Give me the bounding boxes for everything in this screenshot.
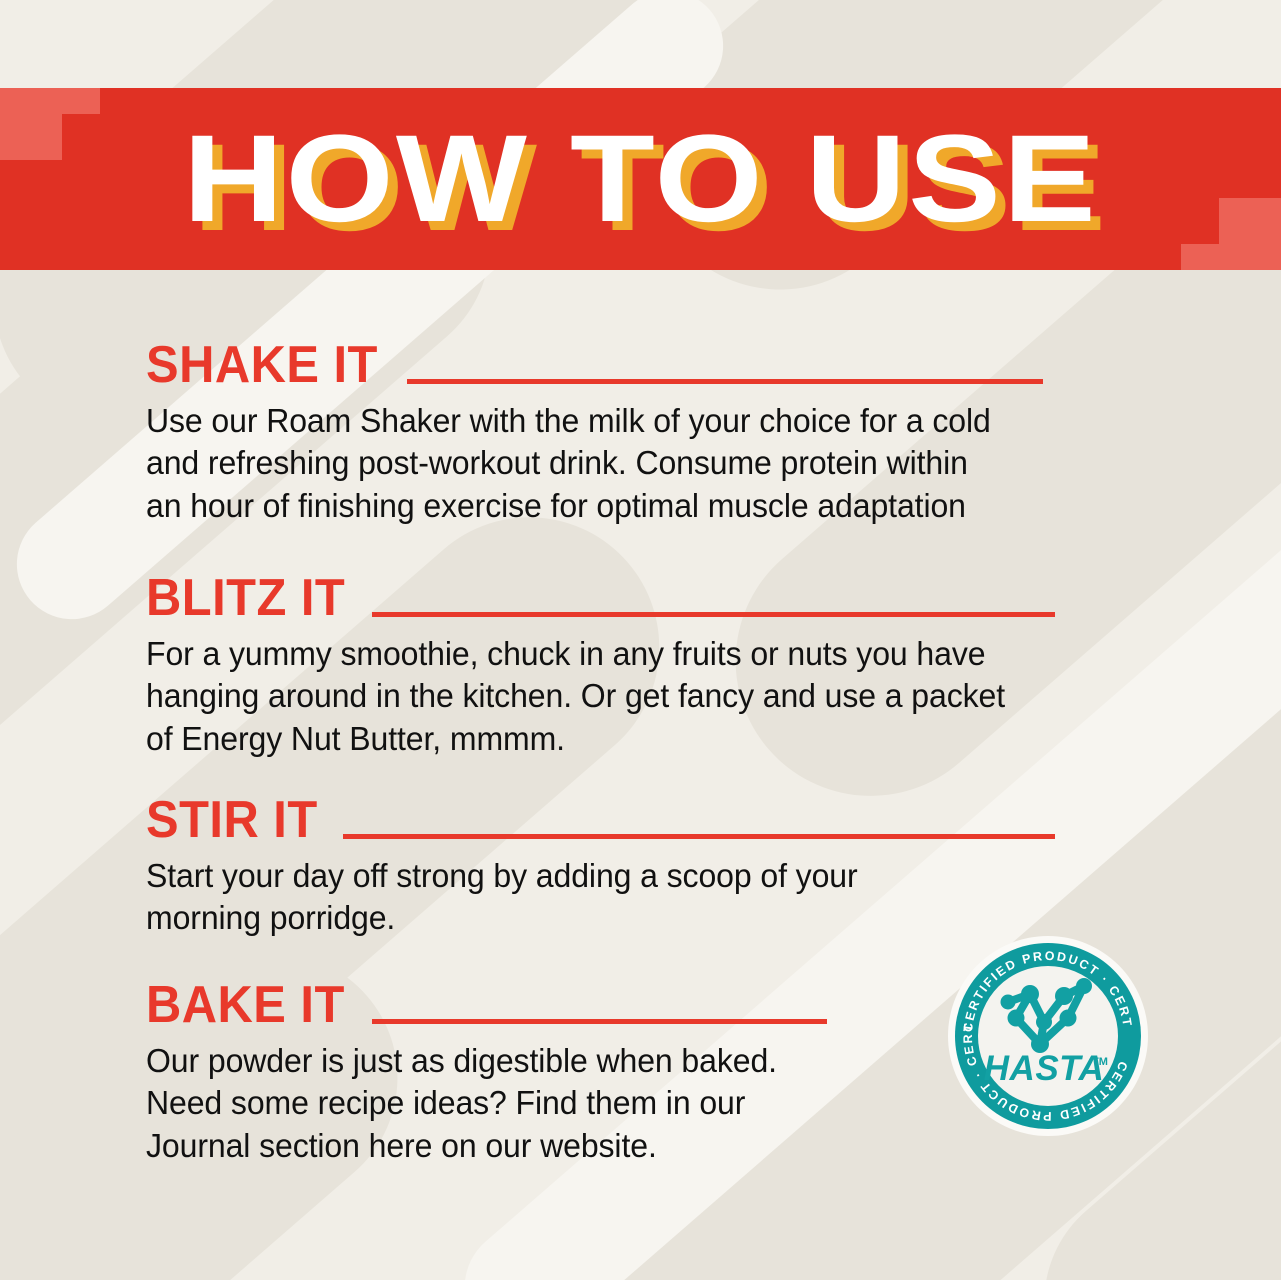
section-heading-row: BAKE IT [146, 982, 827, 1030]
page-title: HOW TO USE [0, 117, 1281, 241]
section-body-text: Our powder is just as digestible when ba… [146, 1040, 806, 1168]
section-body-text: Start your day off strong by adding a sc… [146, 855, 1027, 940]
section-heading-row: BLITZ IT [146, 575, 1055, 623]
heading-rule [372, 1019, 827, 1024]
section-heading-row: SHAKE IT [146, 342, 1043, 390]
poster-canvas: HOW TO USE SHAKE IT Use our Roam Shaker … [0, 0, 1281, 1280]
section-heading: STIR IT [146, 797, 318, 845]
section-heading-row: STIR IT [146, 797, 1055, 845]
section-bake-it: BAKE IT Our powder is just as digestible… [146, 982, 827, 1168]
section-heading: BAKE IT [146, 982, 345, 1030]
header-banner: HOW TO USE [0, 88, 1281, 270]
heading-rule [343, 834, 1055, 839]
section-body-text: For a yummy smoothie, chuck in any fruit… [146, 633, 1028, 761]
badge-wordmark: HASTA [984, 1049, 1104, 1088]
section-body-text: Use our Roam Shaker with the milk of you… [146, 400, 1016, 528]
badge-trademark-symbol: TM [1092, 1056, 1108, 1068]
section-stir-it: STIR IT Start your day off strong by add… [146, 797, 1055, 940]
section-heading: SHAKE IT [146, 342, 378, 390]
heading-rule [407, 379, 1043, 384]
section-shake-it: SHAKE IT Use our Roam Shaker with the mi… [146, 342, 1043, 528]
section-heading: BLITZ IT [146, 575, 345, 623]
hasta-certified-badge: CERTIFIED PRODUCT · CERTIFIED PRODUCT CE… [944, 932, 1152, 1140]
heading-rule [372, 612, 1055, 617]
section-blitz-it: BLITZ IT For a yummy smoothie, chuck in … [146, 575, 1055, 761]
